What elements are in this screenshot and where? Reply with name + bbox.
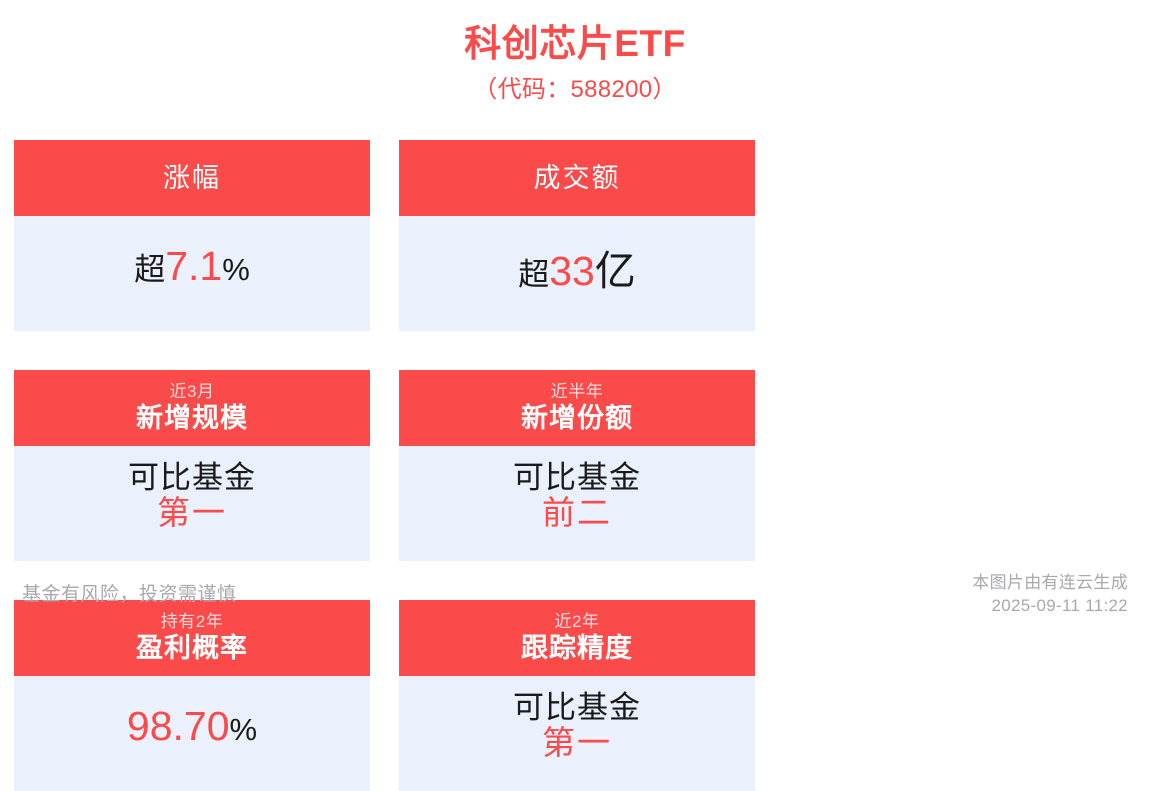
card-body-new-scale-3m: 可比基金 第一 — [14, 446, 370, 561]
value-number: 33 — [549, 248, 595, 295]
metric-card-grid: 涨幅 超 7.1 % 成交额 超 33 亿 近3月 新增规模 — [14, 140, 1136, 791]
metric-rank: 第一 — [157, 495, 227, 532]
page-footer: 基金有风险，投资需谨慎 本图片由有连云生成 2025-09-11 11:22 — [0, 572, 1150, 618]
metric-card-tracking-accuracy-2y: 近2年 跟踪精度 可比基金 第一 — [399, 600, 755, 791]
metric-value: 98.70 % — [127, 703, 257, 750]
value-suffix: % — [222, 252, 250, 288]
fund-code: （代码：588200） — [0, 74, 1150, 105]
card-title: 跟踪精度 — [521, 632, 633, 665]
credit-timestamp: 2025-09-11 11:22 — [972, 595, 1128, 618]
card-eyebrow: 近半年 — [551, 381, 604, 402]
value-prefix: 超 — [134, 244, 165, 289]
card-title: 盈利概率 — [136, 632, 248, 665]
card-eyebrow: 近3月 — [170, 381, 215, 402]
metric-value: 超 7.1 % — [134, 243, 250, 290]
value-prefix: 超 — [518, 249, 549, 294]
metric-value: 超 33 亿 — [518, 237, 636, 297]
page-header: 科创芯片ETF （代码：588200） — [0, 0, 1150, 105]
value-number: 98.70 — [127, 703, 230, 750]
card-title: 新增规模 — [136, 402, 248, 435]
generation-credit: 本图片由有连云生成 2025-09-11 11:22 — [972, 572, 1128, 618]
card-body-tracking-accuracy-2y: 可比基金 第一 — [399, 676, 755, 791]
metric-card-turnover: 成交额 超 33 亿 — [399, 140, 755, 331]
page-title: 科创芯片ETF — [0, 22, 1150, 66]
value-number: 7.1 — [165, 243, 222, 290]
metric-card-new-scale-3m: 近3月 新增规模 可比基金 第一 — [14, 370, 370, 561]
card-title: 成交额 — [534, 162, 621, 195]
metric-rank: 前二 — [542, 495, 612, 532]
card-body-new-shares-6m: 可比基金 前二 — [399, 446, 755, 561]
metric-card-gain: 涨幅 超 7.1 % — [14, 140, 370, 331]
metric-label: 可比基金 — [128, 461, 256, 496]
card-title: 涨幅 — [163, 162, 221, 195]
value-suffix: % — [230, 712, 258, 748]
card-header-new-scale-3m: 近3月 新增规模 — [14, 370, 370, 446]
card-body-gain: 超 7.1 % — [14, 216, 370, 331]
value-unit: 亿 — [595, 237, 636, 297]
card-header-turnover: 成交额 — [399, 140, 755, 216]
metric-rank: 第一 — [542, 725, 612, 762]
credit-source: 本图片由有连云生成 — [972, 572, 1128, 595]
card-header-gain: 涨幅 — [14, 140, 370, 216]
risk-disclaimer: 基金有风险，投资需谨慎 — [22, 579, 237, 618]
metric-card-new-shares-6m: 近半年 新增份额 可比基金 前二 — [399, 370, 755, 561]
card-body-turnover: 超 33 亿 — [399, 216, 755, 331]
card-title: 新增份额 — [521, 402, 633, 435]
metric-label: 可比基金 — [513, 691, 641, 726]
card-body-profit-probability-2y: 98.70 % — [14, 676, 370, 791]
card-header-new-shares-6m: 近半年 新增份额 — [399, 370, 755, 446]
metric-label: 可比基金 — [513, 461, 641, 496]
metric-card-profit-probability-2y: 持有2年 盈利概率 98.70 % — [14, 600, 370, 791]
